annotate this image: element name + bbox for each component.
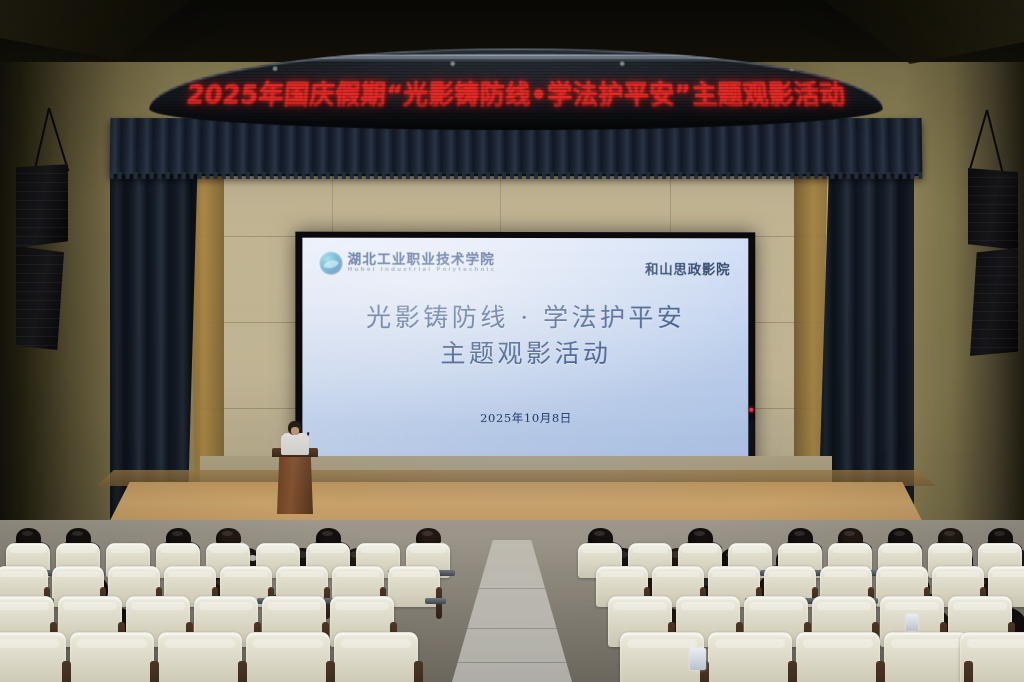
university-seal-icon — [319, 252, 342, 275]
institution-name-cn: 湖北工业职业技术学院 — [348, 253, 496, 267]
slide-title-line-1: 光影铸防线 · 学法护平安 — [302, 300, 748, 336]
audience-seat[interactable] — [796, 632, 880, 682]
stage-curtain-right — [818, 150, 914, 522]
audience-seat[interactable] — [334, 632, 418, 682]
valance-fringe — [110, 172, 923, 179]
tablet-arm[interactable] — [425, 598, 446, 604]
audience-seat[interactable] — [70, 632, 154, 682]
slide-logo: 湖北工业职业技术学院 Hubei Industrial Polytechnic — [319, 252, 495, 275]
line-array-speaker-right — [942, 110, 1018, 346]
wooden-lectern — [272, 448, 318, 514]
slide-org-label: 和山思政影院 — [645, 258, 730, 278]
audience-seat[interactable] — [884, 632, 968, 682]
line-array-speaker-left — [14, 108, 90, 344]
phone-screen[interactable] — [690, 648, 706, 670]
slide-logo-text: 湖北工业职业技术学院 Hubei Industrial Polytechnic — [348, 253, 496, 274]
seat-side-panel — [326, 661, 335, 682]
projection-screen-surface: 湖北工业职业技术学院 Hubei Industrial Polytechnic … — [302, 238, 748, 461]
slide-date: 2025年10月8日 — [302, 410, 748, 426]
audience-seat[interactable] — [0, 632, 66, 682]
seat-side-panel — [788, 661, 797, 682]
red-power-led-icon — [749, 408, 753, 412]
slide-title: 光影铸防线 · 学法护平安 主题观影活动 — [302, 300, 748, 371]
led-banner-text: 2025年国庆假期“光影铸防线•学法护平安”主题观影活动 — [148, 74, 884, 112]
seat-side-panel — [238, 661, 247, 682]
tablet-arm[interactable] — [438, 570, 456, 575]
institution-name-en: Hubei Industrial Polytechnic — [348, 268, 496, 274]
audience-seat[interactable] — [708, 632, 792, 682]
audience-seat[interactable] — [246, 632, 330, 682]
seat-side-panel — [964, 661, 973, 682]
seat-side-panel — [414, 661, 423, 682]
seat-side-panel — [150, 661, 159, 682]
stage-curtain-left — [110, 150, 198, 522]
projection-screen-frame: 湖北工业职业技术学院 Hubei Industrial Polytechnic … — [295, 232, 755, 477]
seat-side-panel — [62, 661, 71, 682]
phone-screen[interactable] — [906, 614, 918, 631]
seat-side-panel — [876, 661, 885, 682]
audience-seat[interactable] — [158, 632, 242, 682]
led-banner: 2025年国庆假期“光影铸防线•学法护平安”主题观影活动 — [148, 48, 884, 130]
auditorium-scene: 2025年国庆假期“光影铸防线•学法护平安”主题观影活动 湖北工业职业技术学院 … — [0, 0, 1024, 682]
slide-title-line-2: 主题观影活动 — [302, 335, 748, 371]
